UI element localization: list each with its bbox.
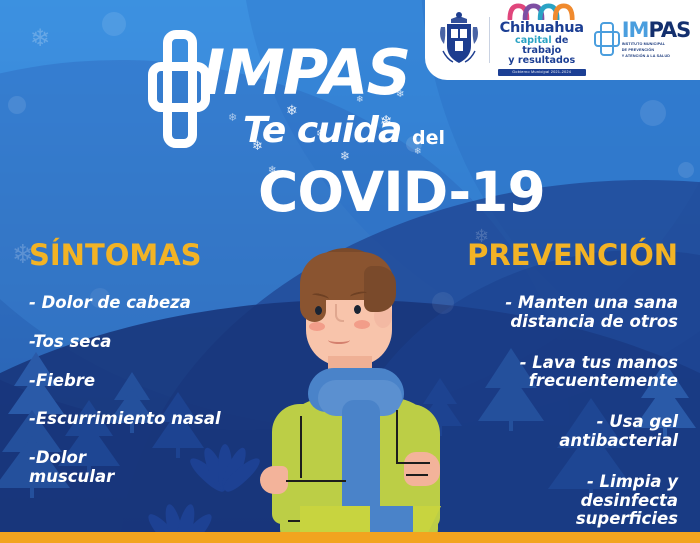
hair-side-right bbox=[364, 266, 396, 312]
decorative-circle bbox=[102, 12, 126, 36]
impas-subtitle-line2: DE PREVENCIÓN bbox=[622, 48, 691, 53]
chihuahua-slogan-line2: y resultados bbox=[498, 56, 586, 66]
impas-subtitle-line1: INSTITUTO MUNICIPAL bbox=[622, 42, 691, 47]
tagline-connector: del bbox=[412, 127, 445, 149]
eye-right bbox=[354, 305, 361, 314]
snowflake-icon: ❄ bbox=[30, 26, 50, 50]
list-item: -Fiebre bbox=[29, 372, 279, 391]
hand-right bbox=[404, 452, 440, 486]
chihuahua-crest-icon bbox=[437, 11, 481, 69]
symptoms-list: - Dolor de cabeza -Tos seca -Fiebre -Esc… bbox=[29, 294, 279, 487]
cheek-right bbox=[354, 320, 370, 329]
bottom-green-block bbox=[300, 506, 370, 532]
impas-big-cross-icon bbox=[148, 30, 210, 148]
chihuahua-slogan-accent: capital bbox=[515, 35, 552, 46]
list-item: - Limpia y desinfecta superficies bbox=[558, 473, 678, 529]
chihuahua-ribbon: Gobierno Municipal 2021-2024 bbox=[498, 69, 586, 76]
chihuahua-slogan-line1: capital de trabajo bbox=[498, 36, 586, 57]
chihuahua-name: Chihuahua bbox=[498, 21, 586, 36]
chihuahua-logo: Chihuahua capital de trabajo y resultado… bbox=[498, 3, 586, 76]
eye-left bbox=[315, 306, 322, 315]
tagline-text: Te cuida bbox=[243, 110, 401, 151]
impas-logo: IMPAS INSTITUTO MUNICIPAL DE PREVENCIÓN … bbox=[594, 20, 691, 58]
jacket-seam bbox=[396, 410, 398, 462]
page-title: COVID-19 bbox=[258, 160, 545, 224]
decorative-circle bbox=[8, 96, 26, 114]
impas-cross-icon bbox=[594, 22, 620, 56]
symptoms-section: SÍNTOMAS - Dolor de cabeza -Tos seca -Fi… bbox=[29, 238, 279, 507]
symptoms-heading: SÍNTOMAS bbox=[29, 238, 279, 272]
institutional-header-banner: Chihuahua capital de trabajo y resultado… bbox=[425, 0, 700, 80]
banner-divider bbox=[489, 17, 490, 63]
bottom-blue-block bbox=[370, 506, 415, 532]
impas-logo-name: IMPAS bbox=[622, 20, 691, 41]
hand-left bbox=[260, 466, 288, 494]
list-item: -Escurrimiento nasal bbox=[29, 410, 279, 429]
covid-infographic-poster: ❄ ❄ ❄ ❄ ❄ ❄ ❄ ❄ ❄ ❄ ❄ ❄ ❄ bbox=[0, 0, 700, 543]
mouth bbox=[328, 336, 350, 344]
snowflake-icon: ❄ bbox=[414, 148, 422, 157]
jacket-seam bbox=[396, 462, 430, 464]
brand-title-text: IMPAS bbox=[202, 42, 409, 104]
bottom-accent-bar bbox=[0, 532, 700, 543]
list-item: -Dolor muscular bbox=[29, 449, 139, 487]
cheek-left bbox=[309, 322, 325, 331]
list-item: -Tos seca bbox=[29, 333, 279, 352]
nose bbox=[335, 304, 344, 322]
impas-subtitle-line3: Y ATENCIÓN A LA SALUD bbox=[622, 54, 691, 59]
decorative-circle bbox=[640, 100, 666, 126]
jacket-seam bbox=[300, 416, 302, 478]
list-item: - Dolor de cabeza bbox=[29, 294, 279, 313]
list-item: - Usa gel antibacterial bbox=[543, 413, 678, 451]
chihuahua-arcs-icon bbox=[498, 3, 586, 20]
sick-person-illustration bbox=[256, 248, 476, 543]
jacket-seam bbox=[286, 480, 346, 482]
decorative-circle bbox=[678, 162, 694, 178]
jacket-seam bbox=[406, 474, 428, 476]
